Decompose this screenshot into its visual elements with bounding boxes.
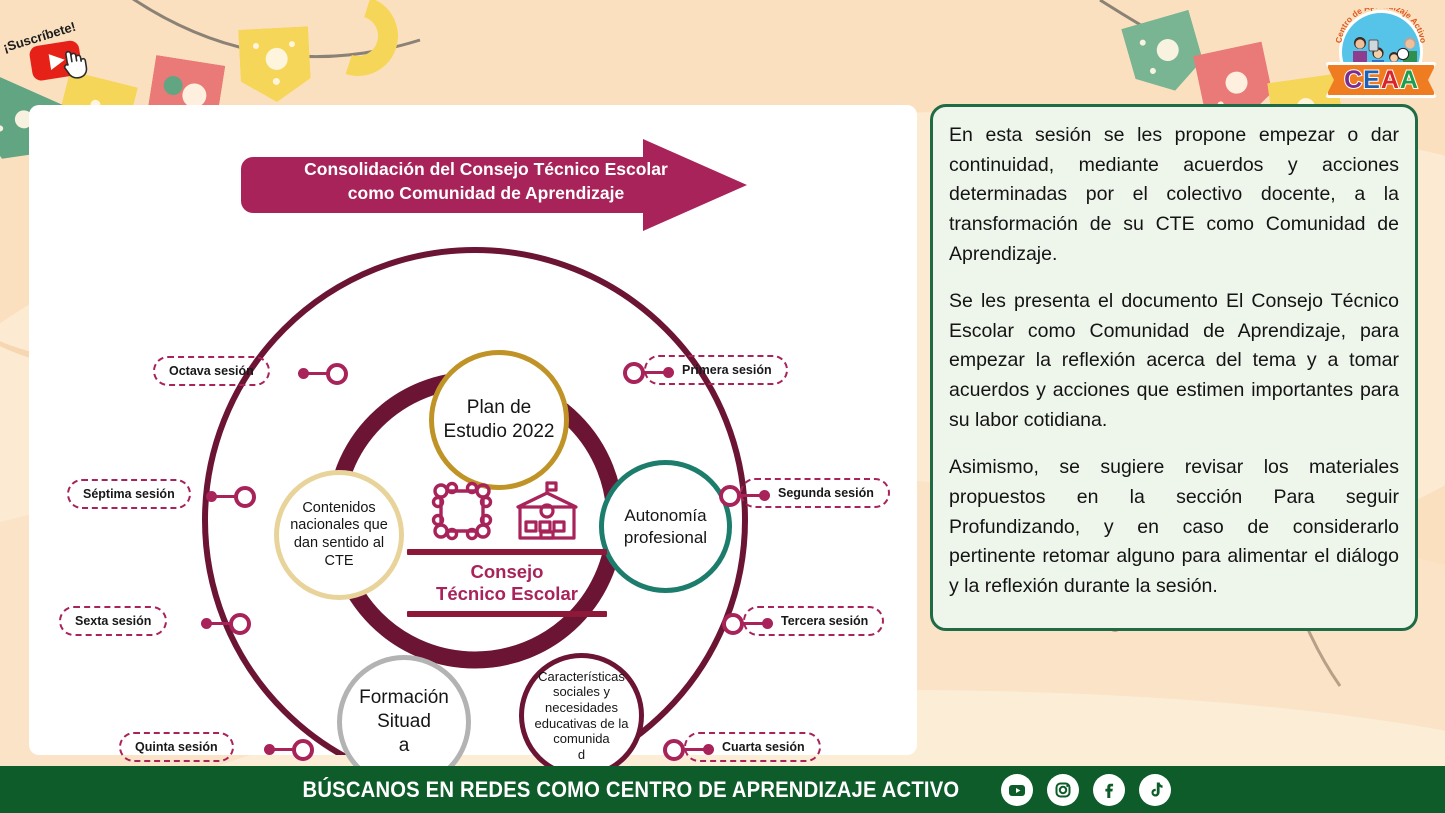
node-plan-line1: Plan de bbox=[444, 396, 555, 420]
node-cont-line3: dan sentido al bbox=[290, 535, 388, 553]
node-form-line2: Situad bbox=[359, 710, 449, 734]
center-brand: Consejo Técnico Escolar bbox=[407, 480, 607, 617]
papel-picado-arc-yellow bbox=[308, 0, 409, 86]
center-rule-top bbox=[407, 549, 607, 555]
dot-session-6 bbox=[201, 618, 212, 629]
node-contenidos-nacionales: Contenidos nacionales que dan sentido al… bbox=[274, 470, 404, 600]
marker-session-3[interactable] bbox=[722, 613, 744, 635]
pill-session-5[interactable]: Quinta sesión bbox=[119, 732, 234, 762]
node-carac-line6: d bbox=[535, 747, 629, 763]
node-plan-estudio: Plan de Estudio 2022 bbox=[429, 350, 569, 490]
pill-session-8[interactable]: Octava sesión bbox=[153, 356, 270, 386]
pill-session-3[interactable]: Tercera sesión bbox=[743, 606, 884, 636]
dot-session-5 bbox=[264, 744, 275, 755]
papel-picado-flag-green-1 bbox=[1121, 10, 1209, 100]
center-icons bbox=[407, 480, 607, 542]
hand-cursor-icon bbox=[59, 46, 90, 82]
center-title-line1: Consejo bbox=[471, 561, 544, 582]
node-cont-line1: Contenidos bbox=[290, 500, 388, 518]
svg-text:Centro de Aprendizaje Activo: Centro de Aprendizaje Activo bbox=[1333, 8, 1428, 44]
instagram-icon[interactable] bbox=[1047, 774, 1079, 806]
node-plan-line2: Estudio 2022 bbox=[444, 420, 555, 444]
marker-session-2[interactable] bbox=[719, 485, 741, 507]
slide-root: ¡Suscríbete! bbox=[0, 0, 1445, 813]
session-description-panel: En esta sesión se les propone empezar o … bbox=[930, 104, 1418, 631]
logo-letter-e: E bbox=[1363, 68, 1380, 93]
youtube-icon[interactable] bbox=[1001, 774, 1033, 806]
pill-session-4[interactable]: Cuarta sesión bbox=[684, 732, 821, 762]
logo-curved-text: Centro de Aprendizaje Activo bbox=[1333, 8, 1429, 58]
node-auto-line1: Autonomía bbox=[624, 505, 707, 526]
network-people-icon bbox=[430, 480, 494, 542]
content-card: Consolidación del Consejo Técnico Escola… bbox=[29, 105, 917, 755]
ceaa-logo: Centro de Aprendizaje Activo C E A A bbox=[1325, 8, 1437, 100]
school-building-icon bbox=[510, 480, 584, 542]
pill-session-7[interactable]: Séptima sesión bbox=[67, 479, 191, 509]
footer-text: BÚSCANOS EN REDES COMO CENTRO DE APRENDI… bbox=[302, 777, 959, 803]
center-rule-bottom bbox=[407, 611, 607, 617]
center-title: Consejo Técnico Escolar bbox=[407, 561, 607, 605]
footer-bar: BÚSCANOS EN REDES COMO CENTRO DE APRENDI… bbox=[0, 766, 1445, 813]
node-form-line3: a bbox=[359, 734, 449, 758]
panel-paragraph-1: En esta sesión se les propone empezar o … bbox=[949, 121, 1399, 269]
node-carac-line4: educativas de la bbox=[535, 716, 629, 732]
marker-session-1[interactable] bbox=[623, 362, 645, 384]
dot-session-8 bbox=[298, 368, 309, 379]
pill-session-1[interactable]: Primera sesión bbox=[644, 355, 788, 385]
marker-session-4[interactable] bbox=[663, 739, 685, 761]
node-cont-line4: CTE bbox=[290, 553, 388, 571]
marker-session-5[interactable] bbox=[292, 739, 314, 761]
node-form-line1: Formación bbox=[359, 686, 449, 710]
cte-cycle-diagram: Plan de Estudio 2022 Contenidos nacional… bbox=[29, 105, 917, 755]
logo-letter-c: C bbox=[1344, 68, 1362, 93]
node-carac-line2: sociales y bbox=[535, 684, 629, 700]
tiktok-icon[interactable] bbox=[1139, 774, 1171, 806]
papel-picado-flag-yellow-2 bbox=[238, 26, 312, 104]
logo-letter-a2: A bbox=[1400, 68, 1418, 93]
panel-paragraph-2: Se les presenta el documento El Consejo … bbox=[949, 287, 1399, 435]
pill-session-6[interactable]: Sexta sesión bbox=[59, 606, 167, 636]
marker-session-6[interactable] bbox=[229, 613, 251, 635]
logo-ribbon: C E A A bbox=[1325, 62, 1437, 98]
node-cont-line2: nacionales que bbox=[290, 517, 388, 535]
subscribe-badge[interactable]: ¡Suscríbete! bbox=[0, 5, 127, 93]
node-autonomia-profesional: Autonomía profesional bbox=[599, 460, 732, 593]
node-carac-line3: necesidades bbox=[535, 700, 629, 716]
center-title-line2: Técnico Escolar bbox=[436, 583, 578, 604]
dot-session-7 bbox=[206, 491, 217, 502]
node-carac-line1: Características bbox=[535, 669, 629, 685]
node-carac-line5: comunida bbox=[535, 731, 629, 747]
marker-session-7[interactable] bbox=[234, 486, 256, 508]
logo-letter-a1: A bbox=[1381, 68, 1399, 93]
marker-session-8[interactable] bbox=[326, 363, 348, 385]
node-caracteristicas-sociales: Características sociales y necesidades e… bbox=[519, 653, 644, 778]
facebook-icon[interactable] bbox=[1093, 774, 1125, 806]
node-auto-line2: profesional bbox=[624, 527, 707, 548]
panel-paragraph-3: Asimismo, se sugiere revisar los materia… bbox=[949, 453, 1399, 601]
pill-session-2[interactable]: Segunda sesión bbox=[740, 478, 890, 508]
logo-curved-label: Centro de Aprendizaje Activo bbox=[1333, 8, 1428, 44]
